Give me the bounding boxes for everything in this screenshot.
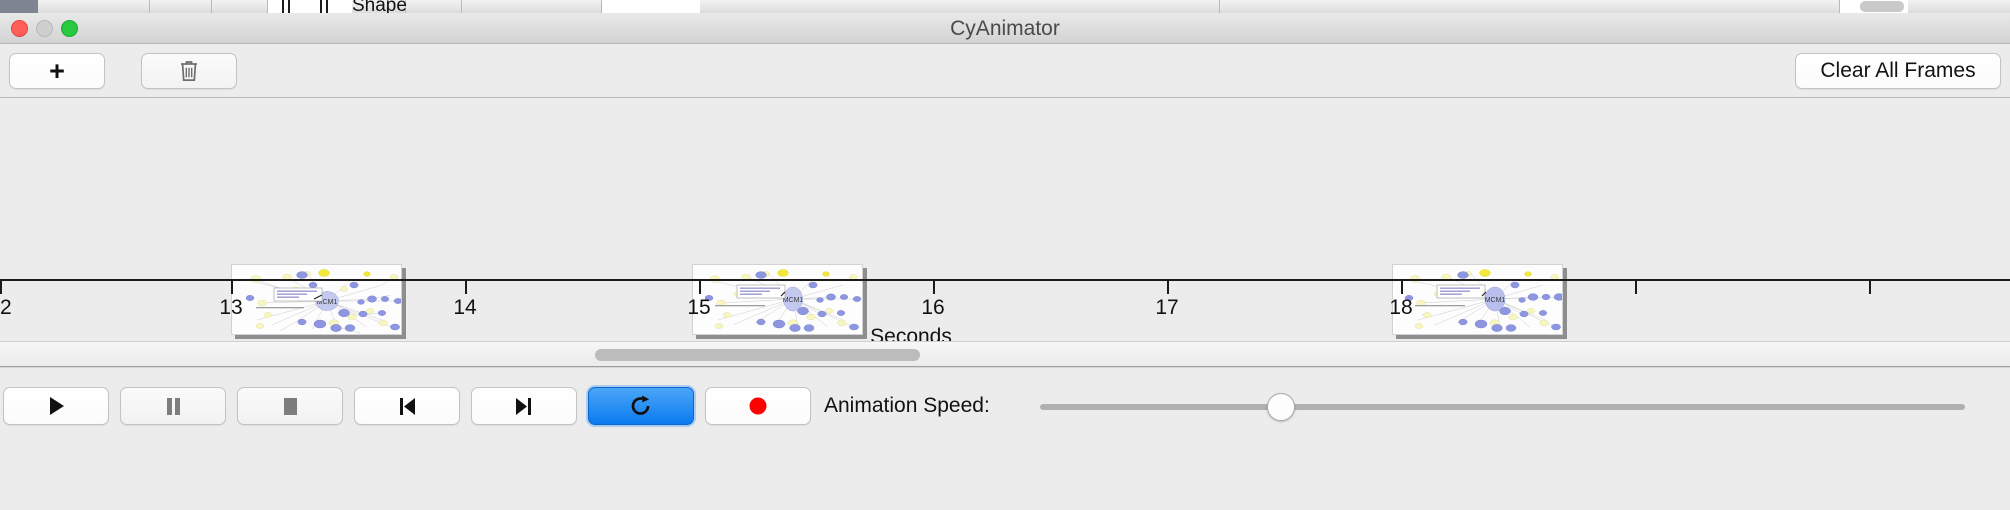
ruler-tick <box>1869 281 1871 294</box>
ruler-baseline <box>0 279 2010 281</box>
record-icon <box>747 395 769 417</box>
timeline-horizontal-scrollbar[interactable] <box>0 341 2010 367</box>
slider-thumb[interactable] <box>1267 393 1295 421</box>
bg-chip <box>1908 0 2010 13</box>
ruler-tick-label: 18 <box>1389 296 1412 320</box>
animation-speed-slider[interactable] <box>1040 404 1965 410</box>
background-application-strip: Shape <box>0 0 2010 14</box>
ruler-tick <box>1401 281 1403 294</box>
clear-all-frames-label: Clear All Frames <box>1820 59 1975 83</box>
play-button[interactable] <box>3 387 109 425</box>
bg-tick <box>326 0 328 13</box>
delete-frame-button[interactable] <box>141 53 237 89</box>
bg-chip <box>700 0 1220 13</box>
add-frame-button[interactable]: + <box>9 53 105 89</box>
ruler-tick-label: 16 <box>921 296 944 320</box>
ruler-tick <box>1167 281 1169 294</box>
ruler-tick <box>231 281 233 294</box>
stop-button[interactable] <box>237 387 343 425</box>
clear-all-frames-button[interactable]: Clear All Frames <box>1795 53 2001 89</box>
slider-track <box>1040 404 1965 410</box>
pause-icon <box>162 395 184 417</box>
loop-icon <box>629 394 653 418</box>
bg-scrollbar-thumb[interactable] <box>1860 1 1904 12</box>
bg-partial-label: Shape <box>352 0 407 13</box>
bg-chip <box>150 0 212 13</box>
ruler-tick <box>1635 281 1637 294</box>
skip-to-end-button[interactable] <box>471 387 577 425</box>
plus-icon: + <box>49 58 65 85</box>
ruler-tick <box>699 281 701 294</box>
cyanimator-window: CyAnimator + Clear All Frames <box>0 13 2010 510</box>
scrollbar-thumb[interactable] <box>595 349 920 361</box>
ruler-tick-label: 14 <box>453 296 476 320</box>
timeline-ruler[interactable]: 12131415161718 Seconds <box>0 279 2010 341</box>
frame-toolbar: + Clear All Frames <box>0 44 2010 98</box>
ruler-tick <box>0 281 2 294</box>
pause-button[interactable] <box>120 387 226 425</box>
timeline-panel[interactable]: MCM1 <box>0 98 2010 341</box>
window-title: CyAnimator <box>0 17 2010 41</box>
skip-forward-icon <box>513 395 535 417</box>
bg-chip <box>212 0 268 13</box>
ruler-tick-label: 12 <box>0 296 12 320</box>
ruler-tick-label: 17 <box>1155 296 1178 320</box>
bg-tick <box>320 0 322 13</box>
skip-back-icon <box>396 395 418 417</box>
ruler-tick <box>933 281 935 294</box>
ruler-axis-title: Seconds <box>870 325 952 341</box>
ruler-tick <box>465 281 467 294</box>
play-icon <box>45 395 67 417</box>
bg-chip <box>1220 0 1840 13</box>
bg-dark-chip <box>0 0 38 13</box>
playback-controls-bar: Animation Speed: <box>0 367 2010 445</box>
bg-tick <box>288 0 290 13</box>
ruler-tick-label: 13 <box>219 296 242 320</box>
window-titlebar: CyAnimator <box>0 13 2010 44</box>
loop-button[interactable] <box>588 387 694 425</box>
skip-to-start-button[interactable] <box>354 387 460 425</box>
bg-chip <box>462 0 602 13</box>
animation-speed-label: Animation Speed: <box>824 394 990 418</box>
trash-icon <box>179 59 199 83</box>
record-button[interactable] <box>705 387 811 425</box>
stop-icon <box>279 395 301 417</box>
bg-tick <box>282 0 284 13</box>
ruler-tick-label: 15 <box>687 296 710 320</box>
bg-chip <box>38 0 150 13</box>
bg-chip <box>406 0 462 13</box>
